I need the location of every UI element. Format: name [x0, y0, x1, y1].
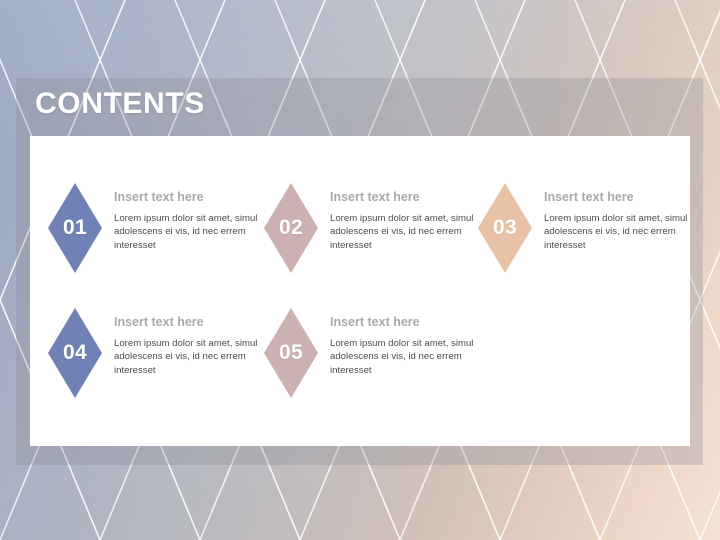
item-number: 04: [48, 308, 102, 398]
item-body: Lorem ipsum dolor sit amet, simul adoles…: [114, 337, 266, 377]
item-number: 03: [478, 183, 532, 273]
item-number: 01: [48, 183, 102, 273]
slide-canvas: CONTENTS 01 Insert text here Lorem ipsum…: [0, 0, 720, 540]
item-number: 02: [264, 183, 318, 273]
item-heading: Insert text here: [330, 315, 482, 330]
content-item-02[interactable]: 02 Insert text here Lorem ipsum dolor si…: [264, 183, 482, 273]
item-body: Lorem ipsum dolor sit amet, simul adoles…: [330, 212, 482, 252]
content-item-03[interactable]: 03 Insert text here Lorem ipsum dolor si…: [478, 183, 696, 273]
item-heading: Insert text here: [114, 315, 266, 330]
item-number: 05: [264, 308, 318, 398]
item-heading: Insert text here: [330, 190, 482, 205]
content-item-01[interactable]: 01 Insert text here Lorem ipsum dolor si…: [48, 183, 266, 273]
diamond-badge-05: 05: [264, 308, 318, 398]
item-body: Lorem ipsum dolor sit amet, simul adoles…: [330, 337, 482, 377]
page-title: CONTENTS: [35, 86, 205, 122]
item-text-block: Insert text here Lorem ipsum dolor sit a…: [102, 183, 266, 252]
item-text-block: Insert text here Lorem ipsum dolor sit a…: [318, 183, 482, 252]
diamond-badge-01: 01: [48, 183, 102, 273]
item-heading: Insert text here: [114, 190, 266, 205]
item-body: Lorem ipsum dolor sit amet, simul adoles…: [114, 212, 266, 252]
diamond-badge-02: 02: [264, 183, 318, 273]
item-text-block: Insert text here Lorem ipsum dolor sit a…: [318, 308, 482, 377]
content-item-04[interactable]: 04 Insert text here Lorem ipsum dolor si…: [48, 308, 266, 398]
diamond-badge-04: 04: [48, 308, 102, 398]
item-text-block: Insert text here Lorem ipsum dolor sit a…: [532, 183, 696, 252]
item-text-block: Insert text here Lorem ipsum dolor sit a…: [102, 308, 266, 377]
content-item-05[interactable]: 05 Insert text here Lorem ipsum dolor si…: [264, 308, 482, 398]
item-body: Lorem ipsum dolor sit amet, simul adoles…: [544, 212, 696, 252]
item-heading: Insert text here: [544, 190, 696, 205]
diamond-badge-03: 03: [478, 183, 532, 273]
